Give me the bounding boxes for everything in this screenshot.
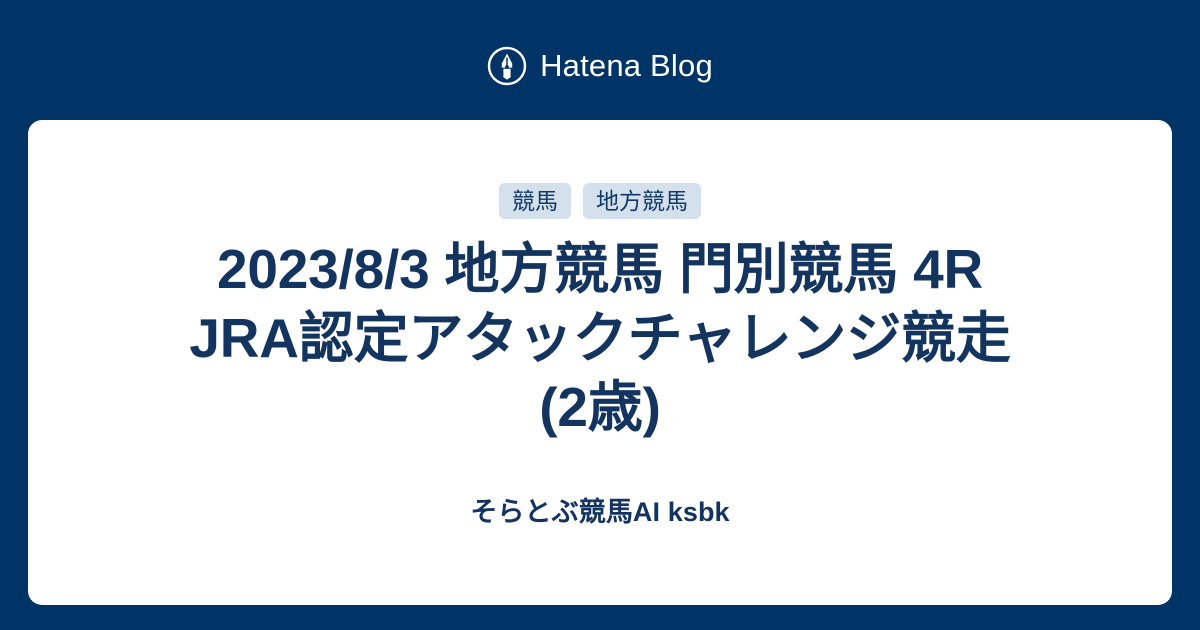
tag-list: 競馬 地方競馬 bbox=[499, 183, 701, 219]
tag-item[interactable]: 地方競馬 bbox=[583, 183, 701, 219]
brand-name-label: Hatena Blog bbox=[540, 46, 713, 86]
og-image-canvas: Hatena Blog 競馬 地方競馬 2023/8/3 地方競馬 門別競馬 4… bbox=[0, 0, 1200, 630]
hatena-pen-nib-icon bbox=[487, 46, 527, 86]
hatena-blog-brand: Hatena Blog bbox=[0, 36, 1200, 96]
tag-item[interactable]: 競馬 bbox=[499, 183, 571, 219]
entry-title-line: JRA認定アタックチャレンジ競走 bbox=[95, 304, 1105, 373]
entry-title-line: 2023/8/3 地方競馬 門別競馬 4R bbox=[95, 235, 1105, 304]
entry-title-line: (2歳) bbox=[95, 373, 1105, 442]
entry-title: 2023/8/3 地方競馬 門別競馬 4R JRA認定アタックチャレンジ競走 (… bbox=[95, 235, 1105, 442]
entry-card: 競馬 地方競馬 2023/8/3 地方競馬 門別競馬 4R JRA認定アタックチ… bbox=[28, 120, 1172, 605]
blog-name: そらとぶ競馬AI ksbk bbox=[95, 494, 1105, 530]
